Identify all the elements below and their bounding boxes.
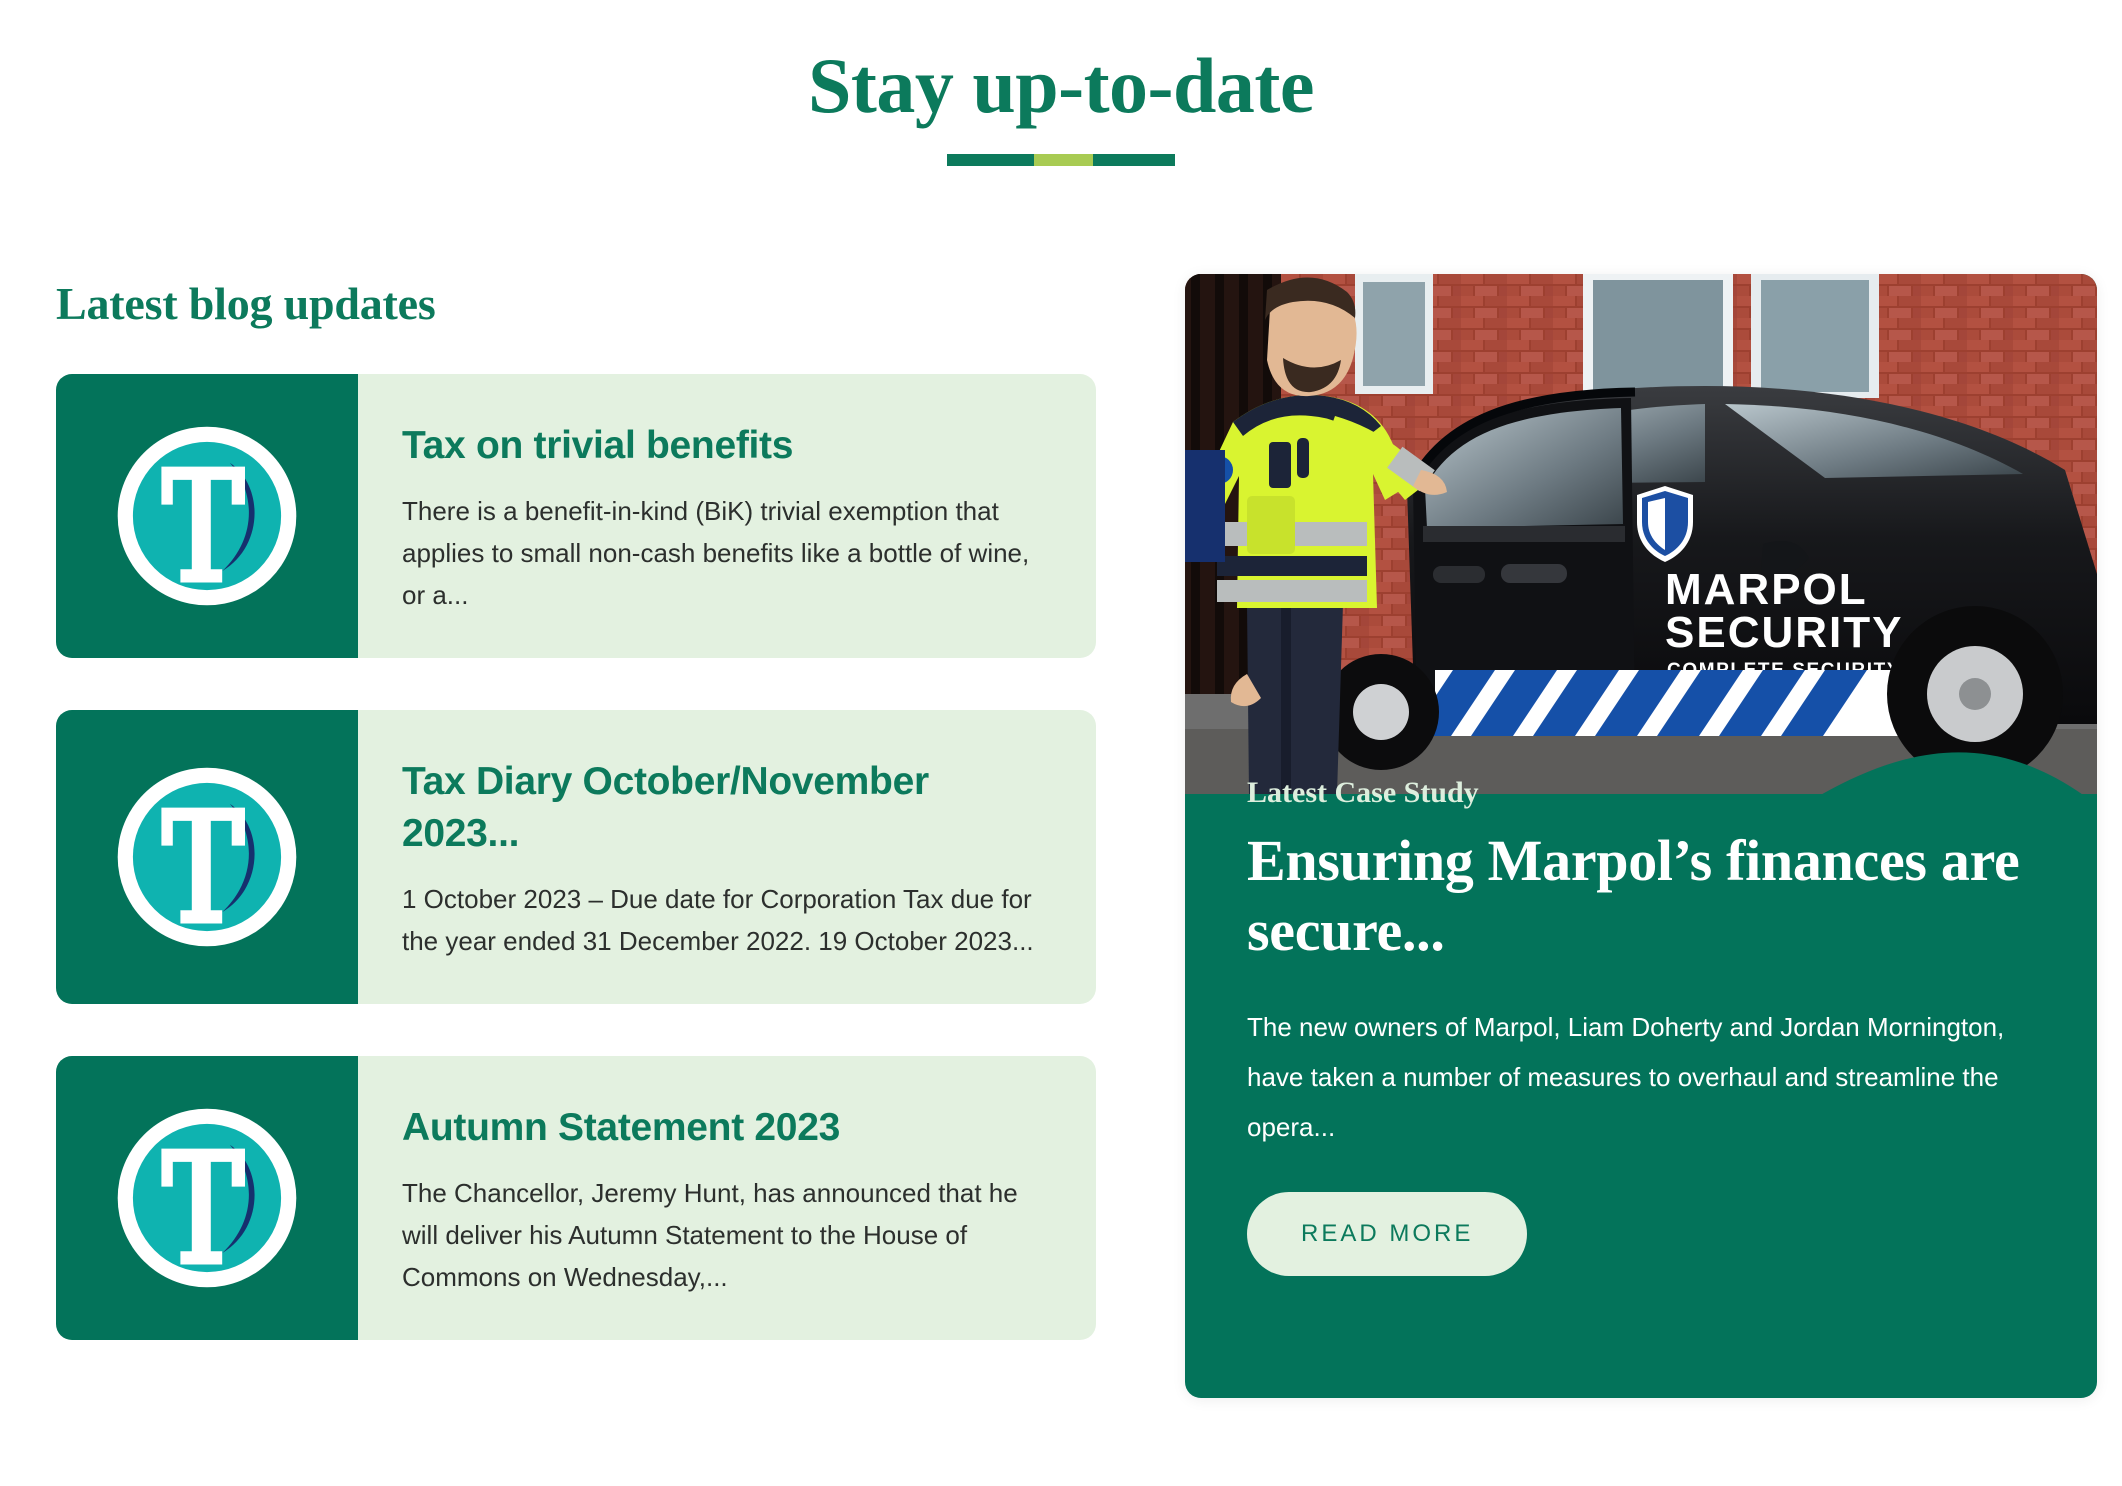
list-item[interactable]: Tax on trivial benefits There is a benef… xyxy=(56,374,1096,658)
case-study-body: Latest Case Study Ensuring Marpol’s fina… xyxy=(1185,774,2097,1276)
svg-text:MARPOL: MARPOL xyxy=(1665,565,1868,614)
divider-segment-left xyxy=(947,154,1034,166)
post-body: Autumn Statement 2023 The Chancellor, Je… xyxy=(358,1056,1096,1340)
post-logo-panel xyxy=(56,1056,358,1340)
tax-assist-logo-icon xyxy=(112,421,302,611)
svg-text:SECURITY: SECURITY xyxy=(1665,608,1903,657)
case-study-kicker: Latest Case Study xyxy=(1247,774,2035,812)
section-header: Stay up-to-date xyxy=(0,40,2122,166)
post-excerpt: There is a benefit-in-kind (BiK) trivial… xyxy=(402,490,1052,616)
post-title: Tax Diary October/November 2023... xyxy=(402,756,1052,860)
read-more-button[interactable]: READ MORE xyxy=(1247,1192,1527,1276)
post-title: Autumn Statement 2023 xyxy=(402,1102,1052,1154)
latest-case-study-card[interactable]: MARPOL SECURITY COMPLETE SECURITY xyxy=(1185,274,2097,1398)
stay-up-to-date-section: Stay up-to-date Latest blog updates xyxy=(0,0,2122,1486)
case-study-photo: MARPOL SECURITY COMPLETE SECURITY xyxy=(1185,274,2097,794)
section-content: Latest blog updates Tax on trivial benef… xyxy=(0,276,2122,1436)
divider-segment-accent xyxy=(1034,154,1093,166)
page-title: Stay up-to-date xyxy=(0,40,2122,132)
case-study-excerpt: The new owners of Marpol, Liam Doherty a… xyxy=(1247,1002,2035,1152)
title-divider xyxy=(947,154,1175,166)
latest-blog-updates-column: Latest blog updates Tax on trivial benef… xyxy=(56,276,1096,1340)
tax-assist-logo-icon xyxy=(112,762,302,952)
divider-segment-right xyxy=(1093,154,1175,166)
tax-assist-logo-icon xyxy=(112,1103,302,1293)
post-excerpt: The Chancellor, Jeremy Hunt, has announc… xyxy=(402,1172,1052,1298)
post-body: Tax Diary October/November 2023... 1 Oct… xyxy=(358,710,1096,1004)
blog-column-heading: Latest blog updates xyxy=(56,276,1096,332)
post-excerpt: 1 October 2023 – Due date for Corporatio… xyxy=(402,878,1052,962)
post-logo-panel xyxy=(56,710,358,1004)
post-body: Tax on trivial benefits There is a benef… xyxy=(358,374,1096,658)
post-title: Tax on trivial benefits xyxy=(402,420,1052,472)
list-item[interactable]: Tax Diary October/November 2023... 1 Oct… xyxy=(56,710,1096,1004)
case-study-title: Ensuring Marpol’s finances are secure... xyxy=(1247,826,2035,966)
post-logo-panel xyxy=(56,374,358,658)
list-item[interactable]: Autumn Statement 2023 The Chancellor, Je… xyxy=(56,1056,1096,1340)
